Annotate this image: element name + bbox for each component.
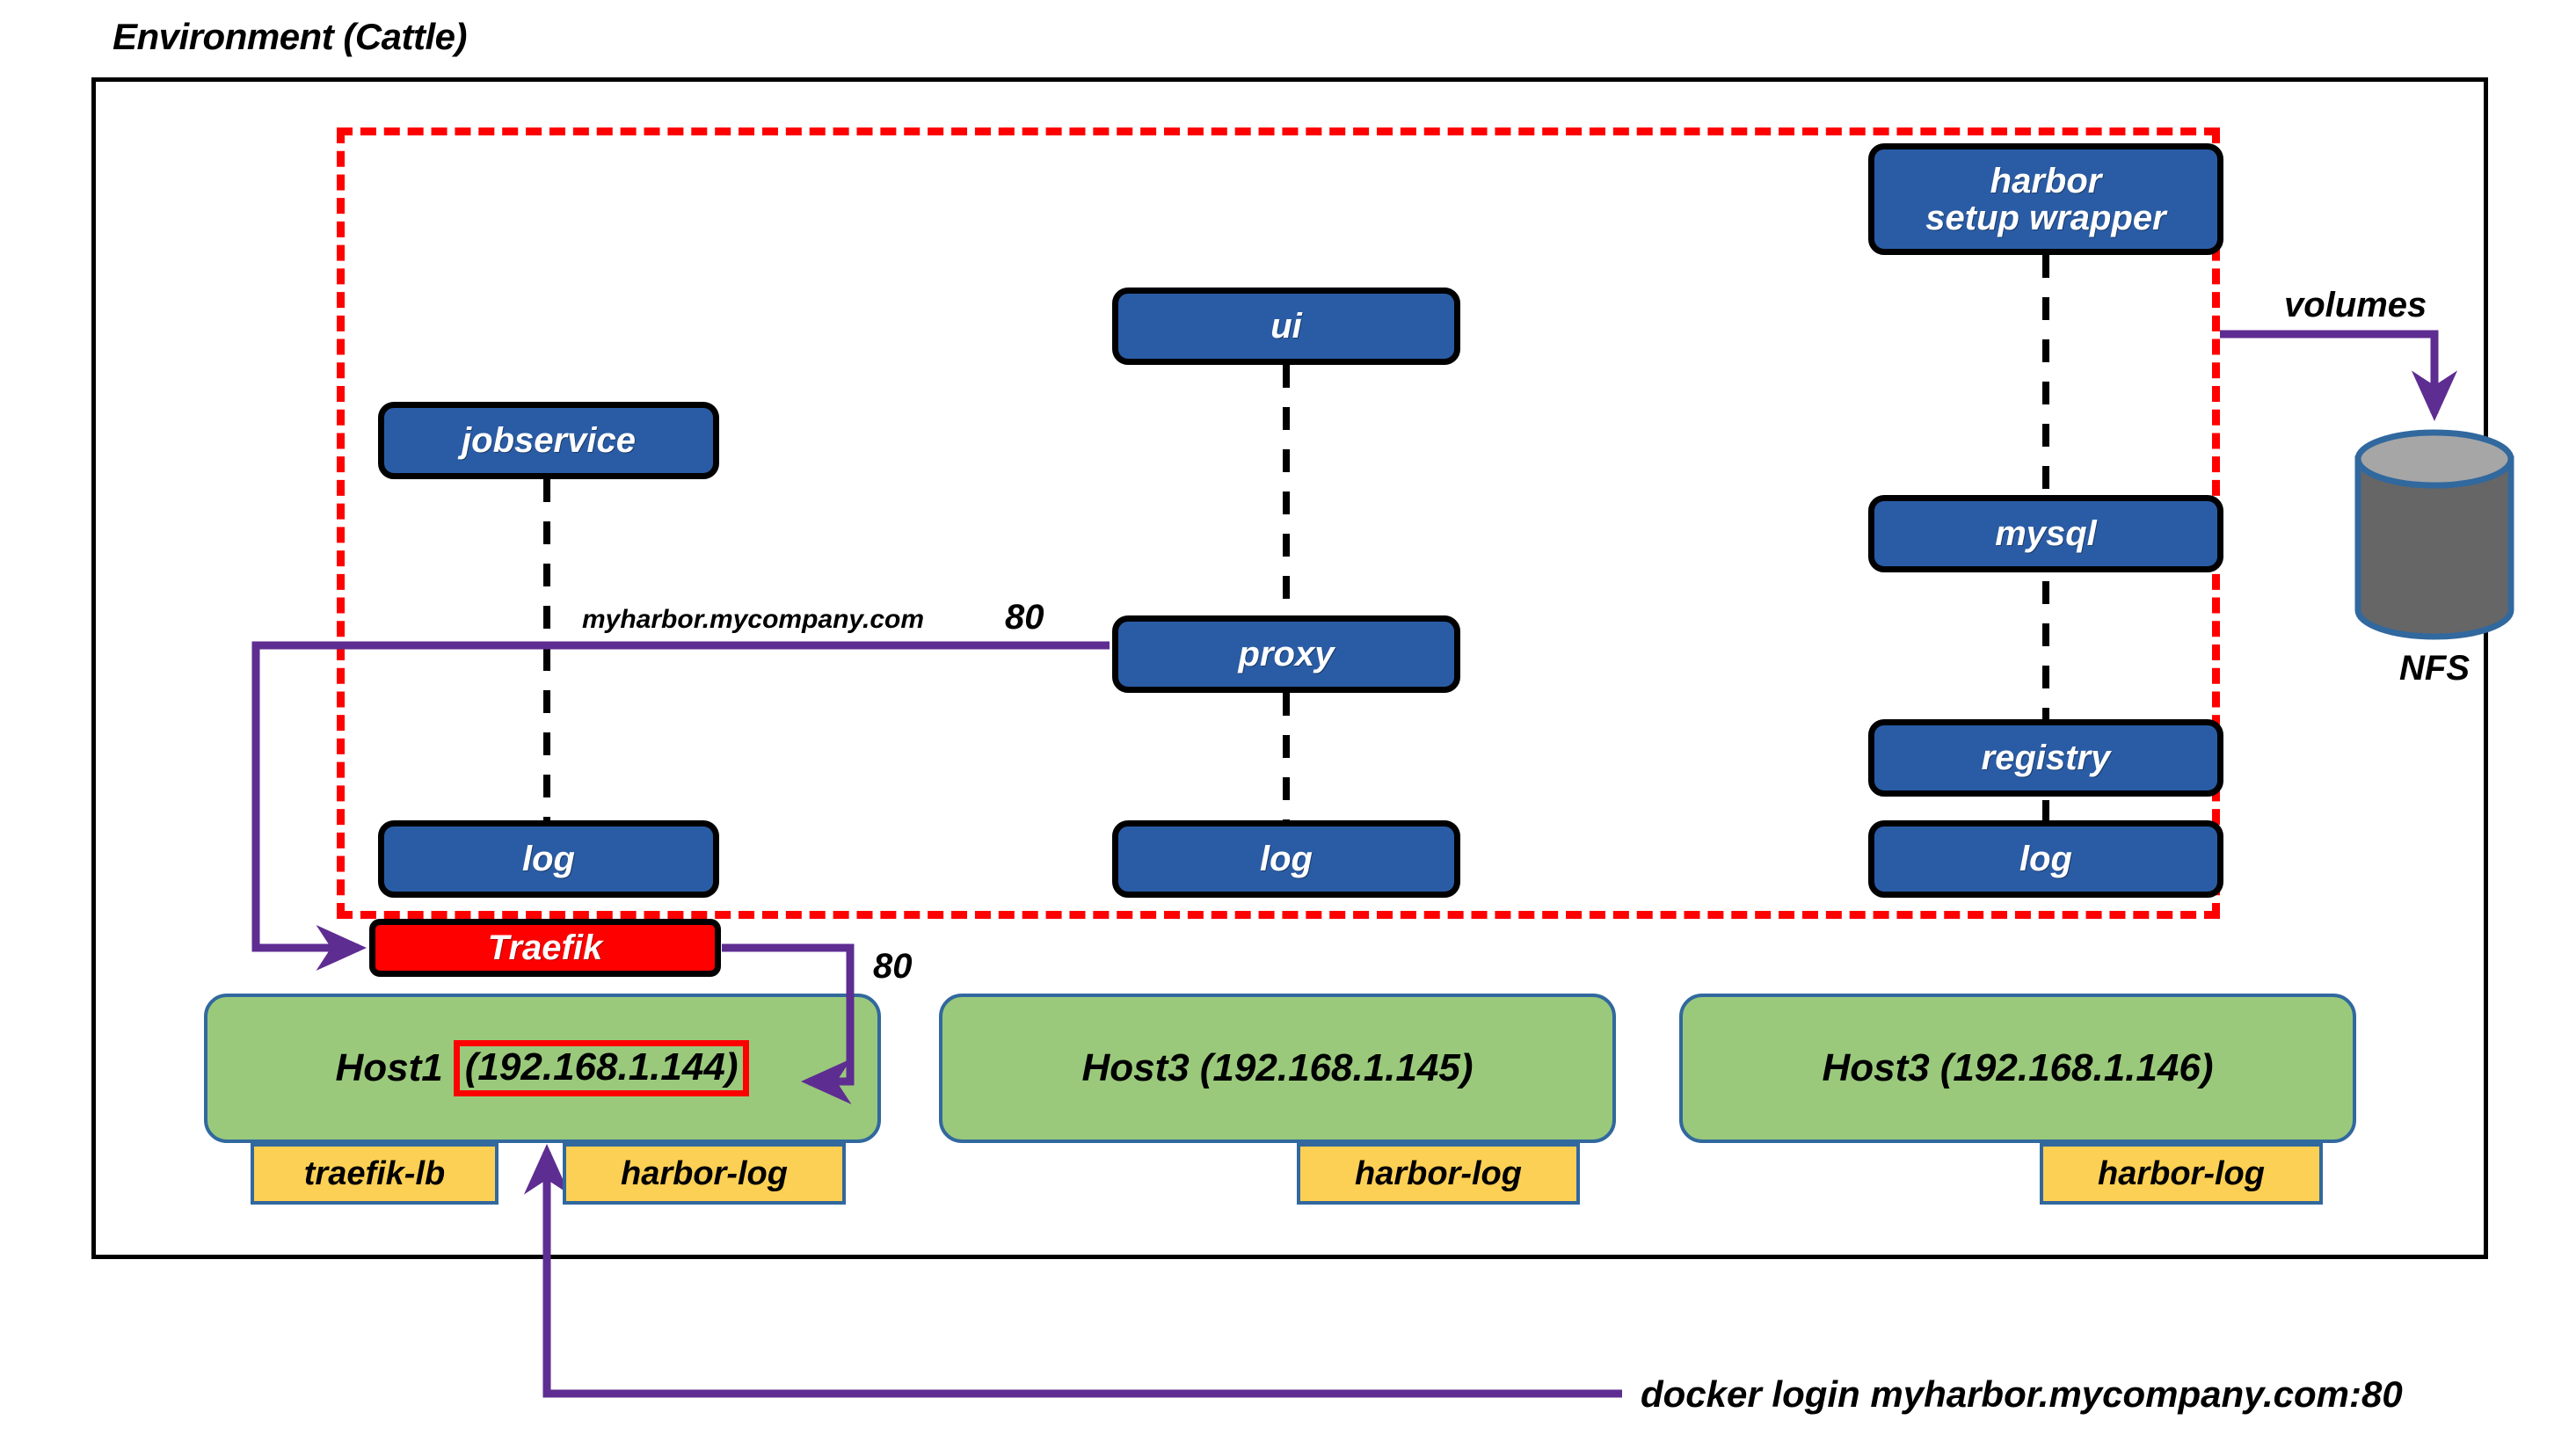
service-label: jobservice xyxy=(462,422,636,459)
annotation-proxy-port: 80 xyxy=(1005,598,1044,637)
host-label-2: Host3 (192.168.1.145) xyxy=(1082,1046,1474,1090)
load-balancer-traefik[interactable]: Traefik xyxy=(369,919,721,977)
service-label: log xyxy=(1260,841,1313,877)
service-label-line2: setup wrapper xyxy=(1925,200,2165,237)
environment-title: Environment (Cattle) xyxy=(113,16,467,58)
host-box-3[interactable]: Host3 (192.168.1.146) xyxy=(1679,994,2356,1143)
host-name: Host1 xyxy=(336,1046,443,1090)
service-label-line1: harbor xyxy=(1990,163,2102,200)
stack-tag-label: harbor-log xyxy=(1355,1155,1522,1193)
service-box-proxy[interactable]: proxy xyxy=(1112,615,1460,693)
stack-tag-label: harbor-log xyxy=(2098,1155,2265,1193)
host-box-1[interactable]: Host1 (192.168.1.144) xyxy=(204,994,881,1143)
annotation-docker-login: docker login myharbor.mycompany.com:80 xyxy=(1641,1373,2403,1416)
host-ip: (192.168.1.146) xyxy=(1940,1046,2214,1090)
annotation-volumes: volumes xyxy=(2284,286,2427,325)
service-label: log xyxy=(2019,841,2072,877)
stack-tag-harbor-log-host1[interactable]: harbor-log xyxy=(563,1143,846,1205)
host-name: Host3 xyxy=(1082,1046,1190,1090)
stack-tag-label: harbor-log xyxy=(621,1155,788,1193)
host-ip-highlighted: (192.168.1.144) xyxy=(454,1040,750,1096)
service-box-proxy-log[interactable]: log xyxy=(1112,820,1460,898)
host-ip: (192.168.1.145) xyxy=(1200,1046,1474,1090)
service-box-mysql[interactable]: mysql xyxy=(1868,495,2223,572)
service-box-registry[interactable]: registry xyxy=(1868,719,2223,797)
stack-tag-harbor-log-host2[interactable]: harbor-log xyxy=(1297,1143,1580,1205)
host-label-1: Host1 (192.168.1.144) xyxy=(336,1040,750,1096)
service-label: proxy xyxy=(1239,636,1335,673)
service-box-harbor-setup-wrapper[interactable]: harbor setup wrapper xyxy=(1868,143,2223,255)
service-box-ui[interactable]: ui xyxy=(1112,288,1460,365)
service-label: registry xyxy=(1982,739,2111,776)
nfs-storage-icon xyxy=(2351,429,2518,640)
service-label: log xyxy=(522,841,575,877)
diagram-canvas: Environment (Cattle) jobservice xyxy=(0,0,2576,1449)
service-label: ui xyxy=(1270,308,1302,345)
service-box-jobservice-log[interactable]: log xyxy=(378,820,719,898)
host-label-3: Host3 (192.168.1.146) xyxy=(1823,1046,2214,1090)
host-box-2[interactable]: Host3 (192.168.1.145) xyxy=(939,994,1616,1143)
nfs-storage-label: NFS xyxy=(2351,649,2518,688)
load-balancer-label: Traefik xyxy=(488,928,602,968)
service-box-registry-log[interactable]: log xyxy=(1868,820,2223,898)
stack-tag-label: traefik-lb xyxy=(304,1155,445,1193)
service-box-jobservice[interactable]: jobservice xyxy=(378,402,719,479)
stack-tag-traefik-lb[interactable]: traefik-lb xyxy=(251,1143,498,1205)
host-name: Host3 xyxy=(1823,1046,1930,1090)
stack-tag-harbor-log-host3[interactable]: harbor-log xyxy=(2040,1143,2323,1205)
annotation-hostname: myharbor.mycompany.com xyxy=(582,605,924,635)
annotation-traefik-port: 80 xyxy=(873,947,913,987)
service-label: mysql xyxy=(1995,515,2097,552)
